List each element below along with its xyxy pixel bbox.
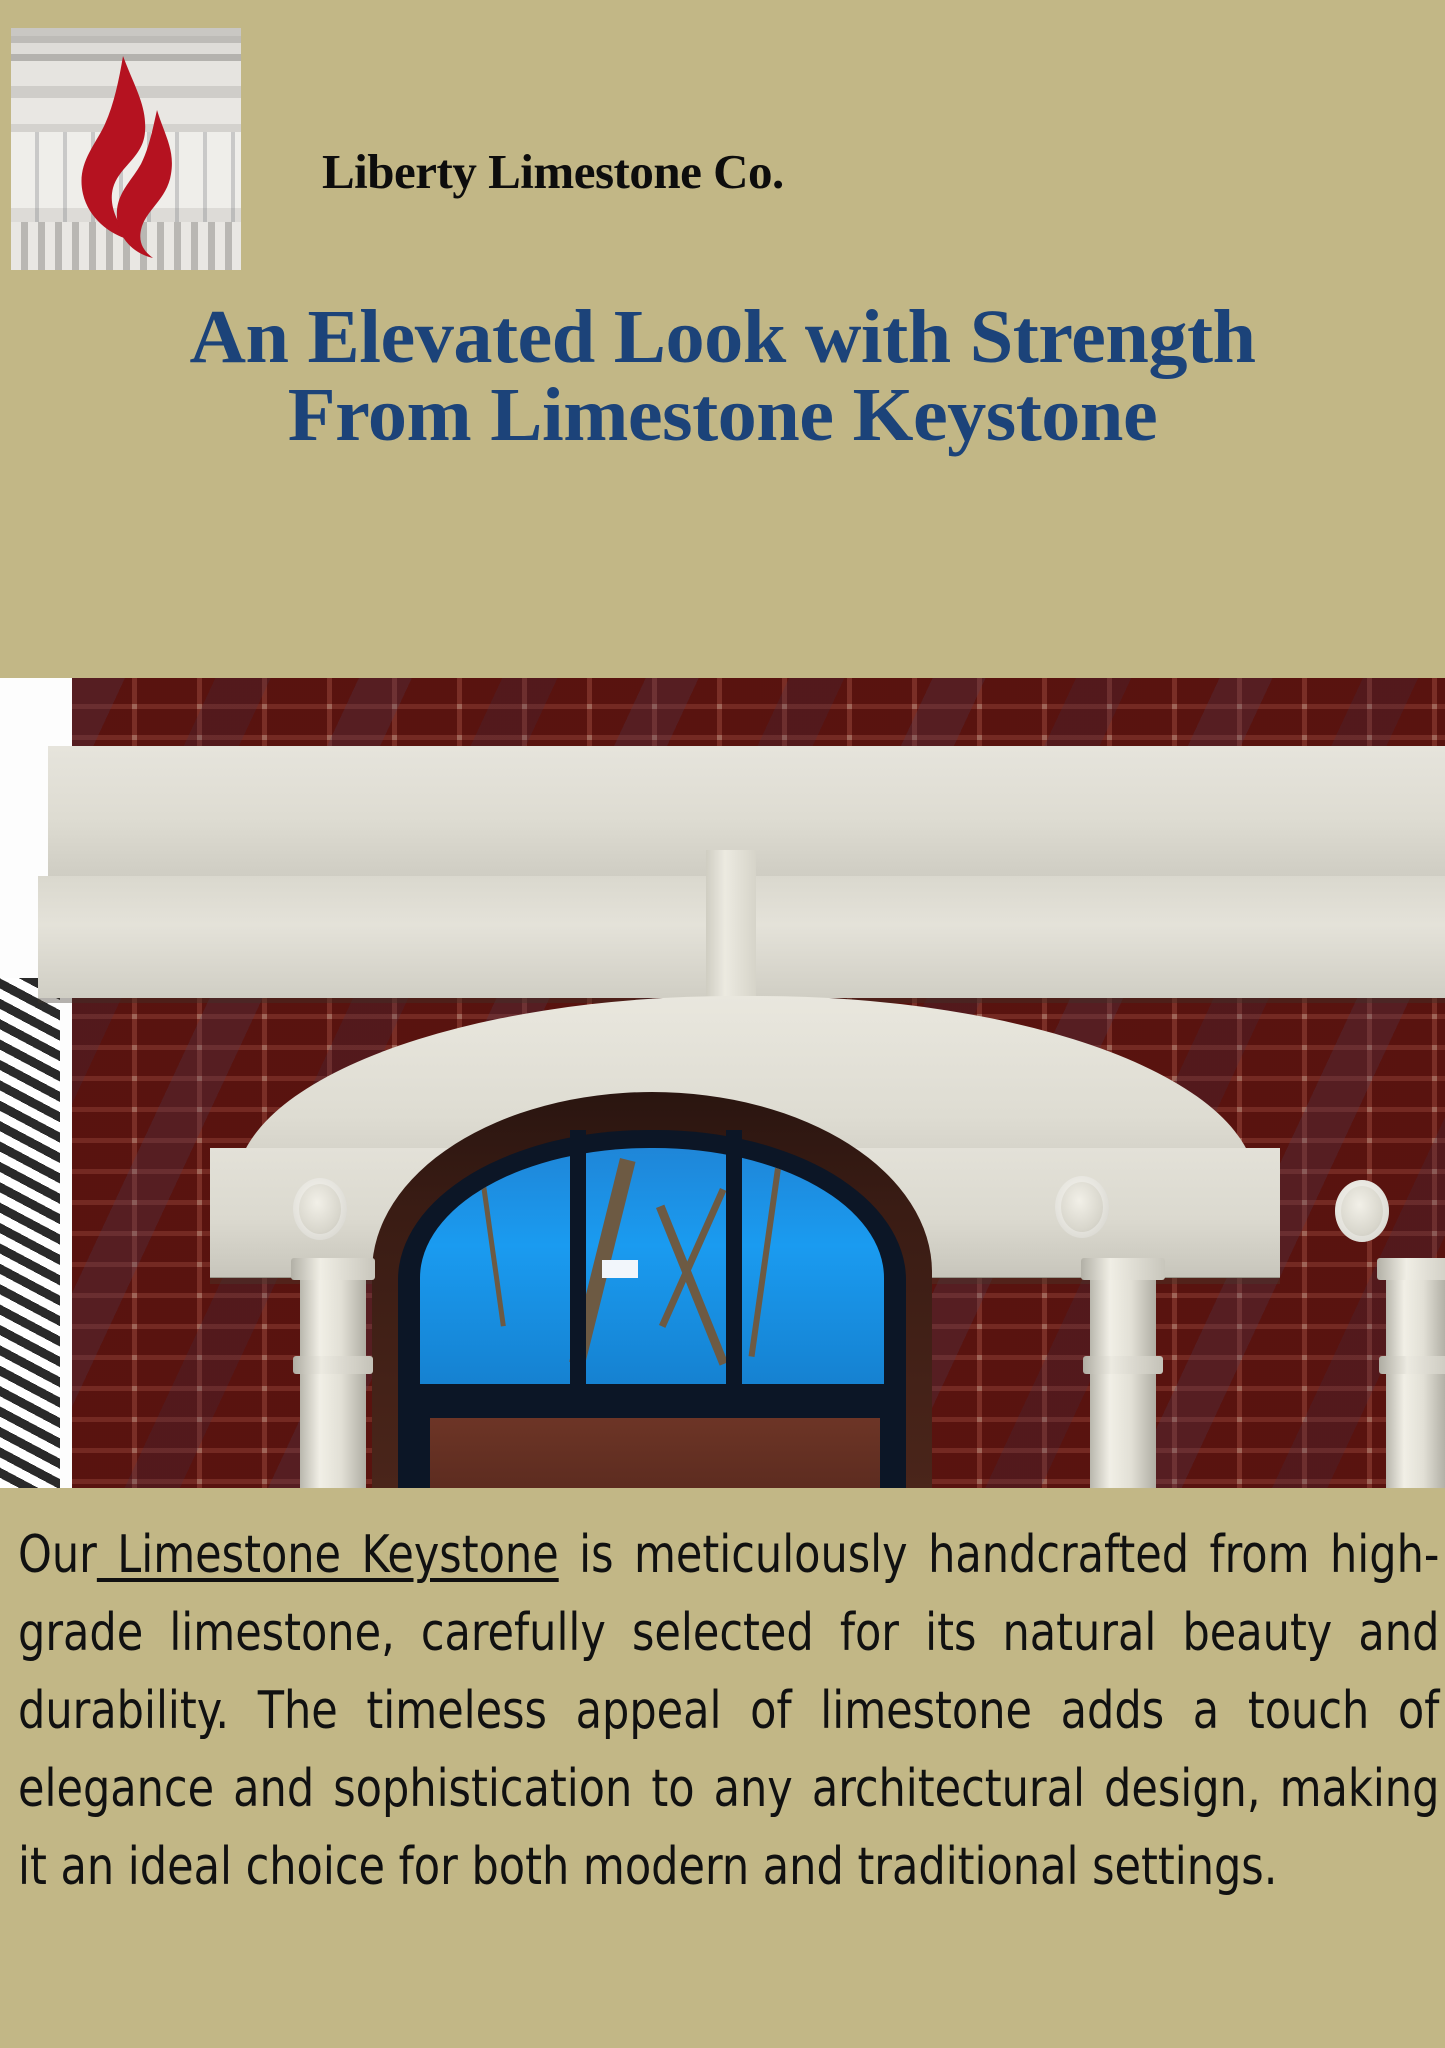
- red-flame-logo-icon: [61, 54, 193, 260]
- tree-branch-reflection: [480, 1177, 506, 1326]
- page-headline: An Elevated Look with Strength From Lime…: [0, 298, 1445, 454]
- window-glass-reflection: [420, 1148, 884, 1392]
- limestone-column-left: [300, 1270, 366, 1488]
- rosette-ornament-right: [1055, 1176, 1109, 1238]
- tree-branch-reflection: [659, 1188, 726, 1328]
- description-paragraph: Our Limestone Keystone is meticulously h…: [18, 1516, 1439, 1906]
- brand-title: Liberty Limestone Co.: [322, 147, 784, 196]
- wooden-door: [430, 1418, 880, 1488]
- tree-branch-reflection: [749, 1168, 781, 1357]
- tree-branch-reflection: [656, 1205, 728, 1366]
- limestone-column-far-right: [1386, 1270, 1445, 1488]
- rosette-ornament-far-right: [1335, 1180, 1389, 1242]
- window-transom-bar: [398, 1384, 906, 1410]
- description-product-link[interactable]: Limestone Keystone: [97, 1525, 559, 1585]
- headline-line-2: From Limestone Keystone: [0, 376, 1445, 454]
- rosette-ornament-left: [293, 1178, 347, 1240]
- flyer-page: Liberty Limestone Co. An Elevated Look w…: [0, 0, 1445, 2048]
- header-band: Liberty Limestone Co. An Elevated Look w…: [0, 0, 1445, 678]
- headline-line-1: An Elevated Look with Strength: [0, 298, 1445, 376]
- glass-highlight: [602, 1260, 638, 1278]
- limestone-column-right: [1090, 1270, 1156, 1488]
- body-copy-band: Our Limestone Keystone is meticulously h…: [0, 1488, 1445, 2048]
- logo-block: [11, 28, 241, 270]
- description-lead: Our: [18, 1525, 97, 1585]
- window-mullion: [570, 1130, 586, 1390]
- limestone-keystone-photo: [0, 678, 1445, 1488]
- adjacent-building-siding: [0, 978, 60, 1488]
- window-mullion: [726, 1130, 742, 1390]
